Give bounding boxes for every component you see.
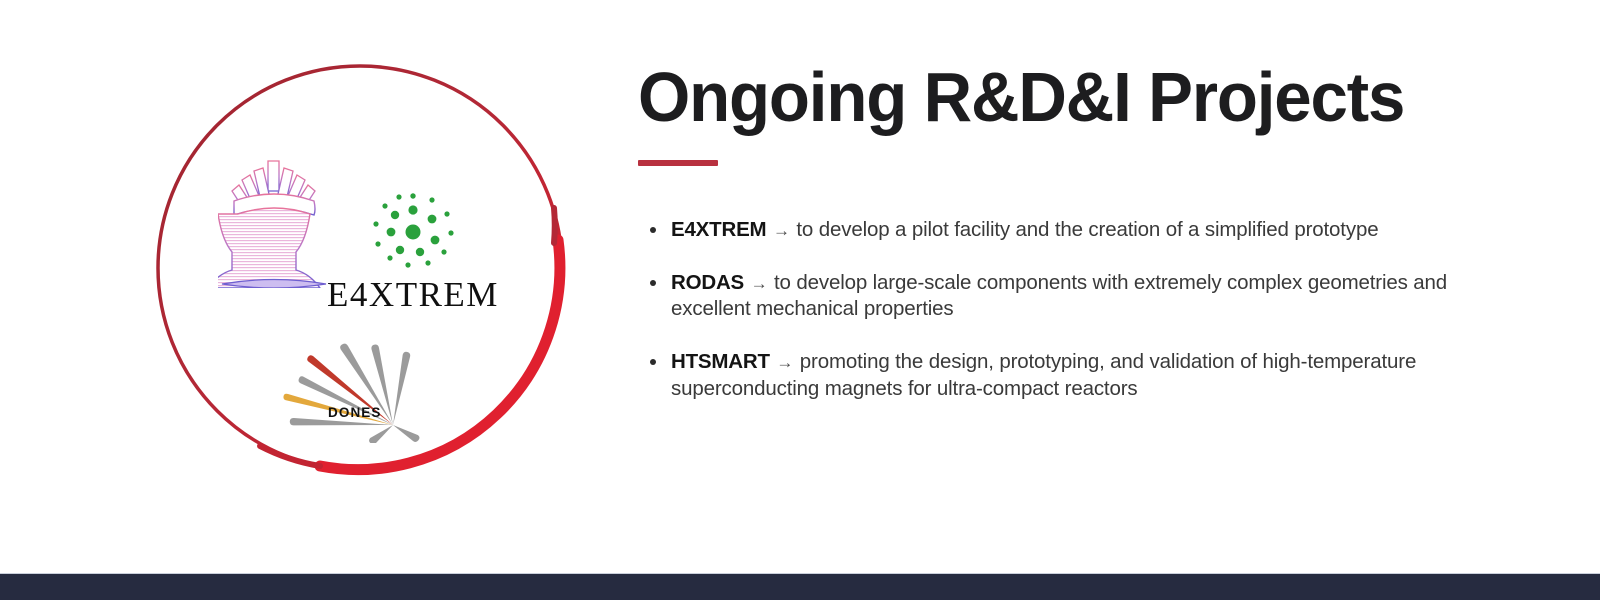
project-name: E4XTREM <box>671 218 766 241</box>
bullet-marker <box>650 359 656 365</box>
list-item: HTSMART → promoting the design, prototyp… <box>638 349 1488 401</box>
project-description: to develop a pilot facility and the crea… <box>796 218 1378 241</box>
logo-badge: E4XTREM DONES <box>140 48 580 488</box>
project-name: RODAS <box>671 271 744 294</box>
e4xtrem-logo: E4XTREM <box>323 188 503 312</box>
arrow-icon: → <box>750 274 769 293</box>
content-column: Ongoing R&D&I Projects E4XTREM → to deve… <box>638 62 1488 402</box>
dones-wordmark-text: DONES <box>328 405 382 420</box>
nozzle-crown-illustration <box>218 153 330 288</box>
project-description: to develop large-scale components with e… <box>671 271 1447 320</box>
arrow-icon: → <box>775 353 794 372</box>
radial-dot-burst-icon <box>368 188 458 268</box>
e4xtrem-wordmark-text: E4XTREM <box>323 277 503 312</box>
list-item: E4XTREM → to develop a pilot facility an… <box>638 217 1488 243</box>
dones-rays-icon <box>280 333 425 443</box>
slide-canvas: E4XTREM DONES <box>0 0 1600 600</box>
page-title: Ongoing R&D&I Projects <box>638 62 1454 133</box>
bottom-bar <box>0 573 1600 600</box>
arrow-icon: → <box>772 221 791 240</box>
project-list: E4XTREM → to develop a pilot facility an… <box>638 217 1488 401</box>
list-item: RODAS → to develop large-scale component… <box>638 270 1488 322</box>
bullet-marker <box>650 227 656 233</box>
bullet-marker <box>650 280 656 286</box>
dones-logo: DONES <box>280 333 425 443</box>
project-name: HTSMART <box>671 350 770 373</box>
title-accent-rule <box>638 160 718 166</box>
